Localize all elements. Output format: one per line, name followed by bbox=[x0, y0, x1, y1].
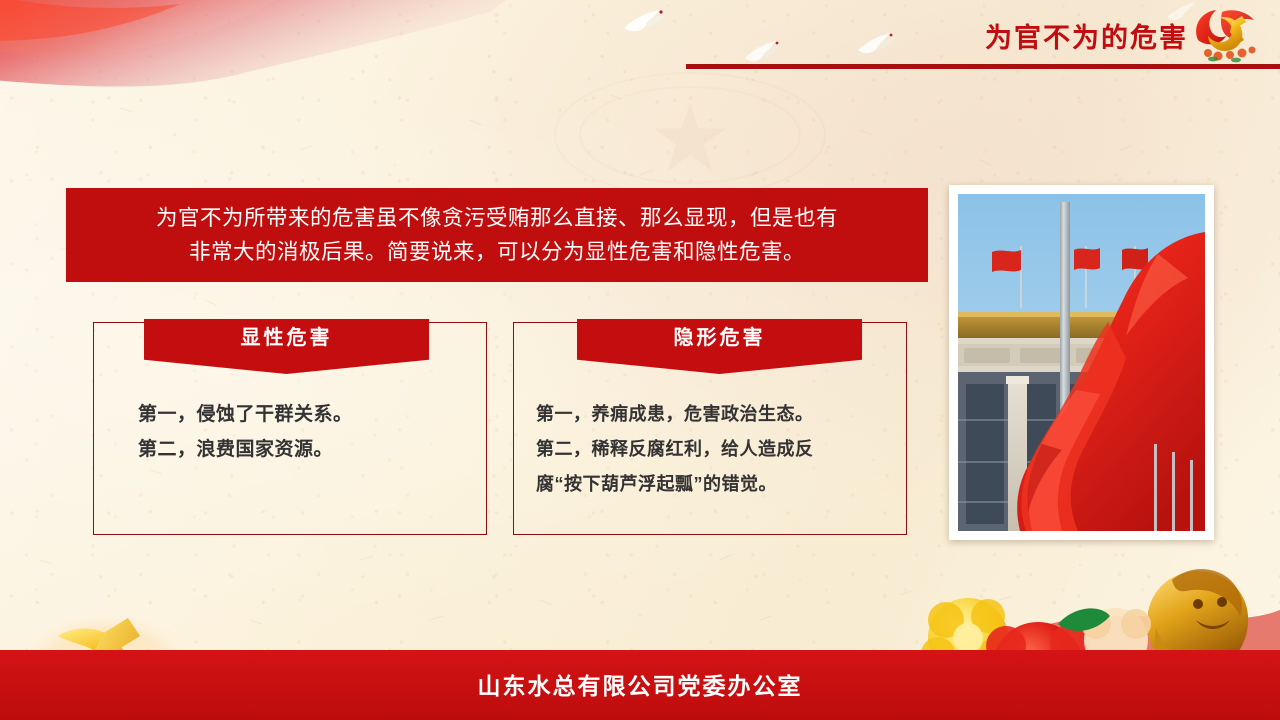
hidden-harm-title: 隐形危害 bbox=[674, 319, 766, 357]
list-item: 腐“按下葫芦浮起瓢”的错觉。 bbox=[536, 467, 888, 502]
explicit-harm-box: 显性危害 第一，侵蚀了干群关系。 第二，浪费国家资源。 bbox=[93, 322, 487, 535]
page-title: 为官不为的危害 bbox=[985, 16, 1188, 55]
slide: 为官不为的危害 为官不为所带来的危害虽不像贪污受贿 bbox=[0, 0, 1280, 720]
statement-banner-line: 非常大的消极后果。简要说来，可以分为显性危害和隐性危害。 bbox=[88, 235, 906, 269]
dove-icon bbox=[620, 6, 672, 38]
list-item: 第二，浪费国家资源。 bbox=[138, 432, 468, 467]
hidden-harm-box: 隐形危害 第一，养痈成患，危害政治生态。 第二，稀释反腐红利，给人造成反 腐“按… bbox=[513, 322, 907, 535]
photo-great-hall-with-flags bbox=[958, 194, 1205, 531]
list-item: 第一，侵蚀了干群关系。 bbox=[138, 397, 468, 432]
explicit-harm-title: 显性危害 bbox=[241, 319, 333, 357]
statement-banner: 为官不为所带来的危害虽不像贪污受贿那么直接、那么显现，但是也有 非常大的消极后果… bbox=[66, 188, 928, 282]
list-item: 第一，养痈成患，危害政治生态。 bbox=[536, 397, 888, 432]
party-emblem-icon bbox=[1192, 6, 1264, 64]
list-item: 第二，稀释反腐红利，给人造成反 bbox=[536, 432, 888, 467]
dove-icon bbox=[855, 30, 901, 60]
explicit-harm-ribbon: 显性危害 bbox=[144, 319, 429, 374]
footer-organization-name: 山东水总有限公司党委办公室 bbox=[0, 667, 1280, 701]
statement-banner-line: 为官不为所带来的危害虽不像贪污受贿那么直接、那么显现，但是也有 bbox=[88, 201, 906, 235]
photo-frame bbox=[949, 185, 1214, 540]
hidden-harm-ribbon: 隐形危害 bbox=[577, 319, 862, 374]
top-left-red-flag-decoration bbox=[0, 0, 530, 102]
explicit-harm-body: 第一，侵蚀了干群关系。 第二，浪费国家资源。 bbox=[94, 397, 486, 467]
header-divider-rule bbox=[686, 64, 1280, 69]
hidden-harm-body: 第一，养痈成患，危害政治生态。 第二，稀释反腐红利，给人造成反 腐“按下葫芦浮起… bbox=[514, 397, 906, 502]
